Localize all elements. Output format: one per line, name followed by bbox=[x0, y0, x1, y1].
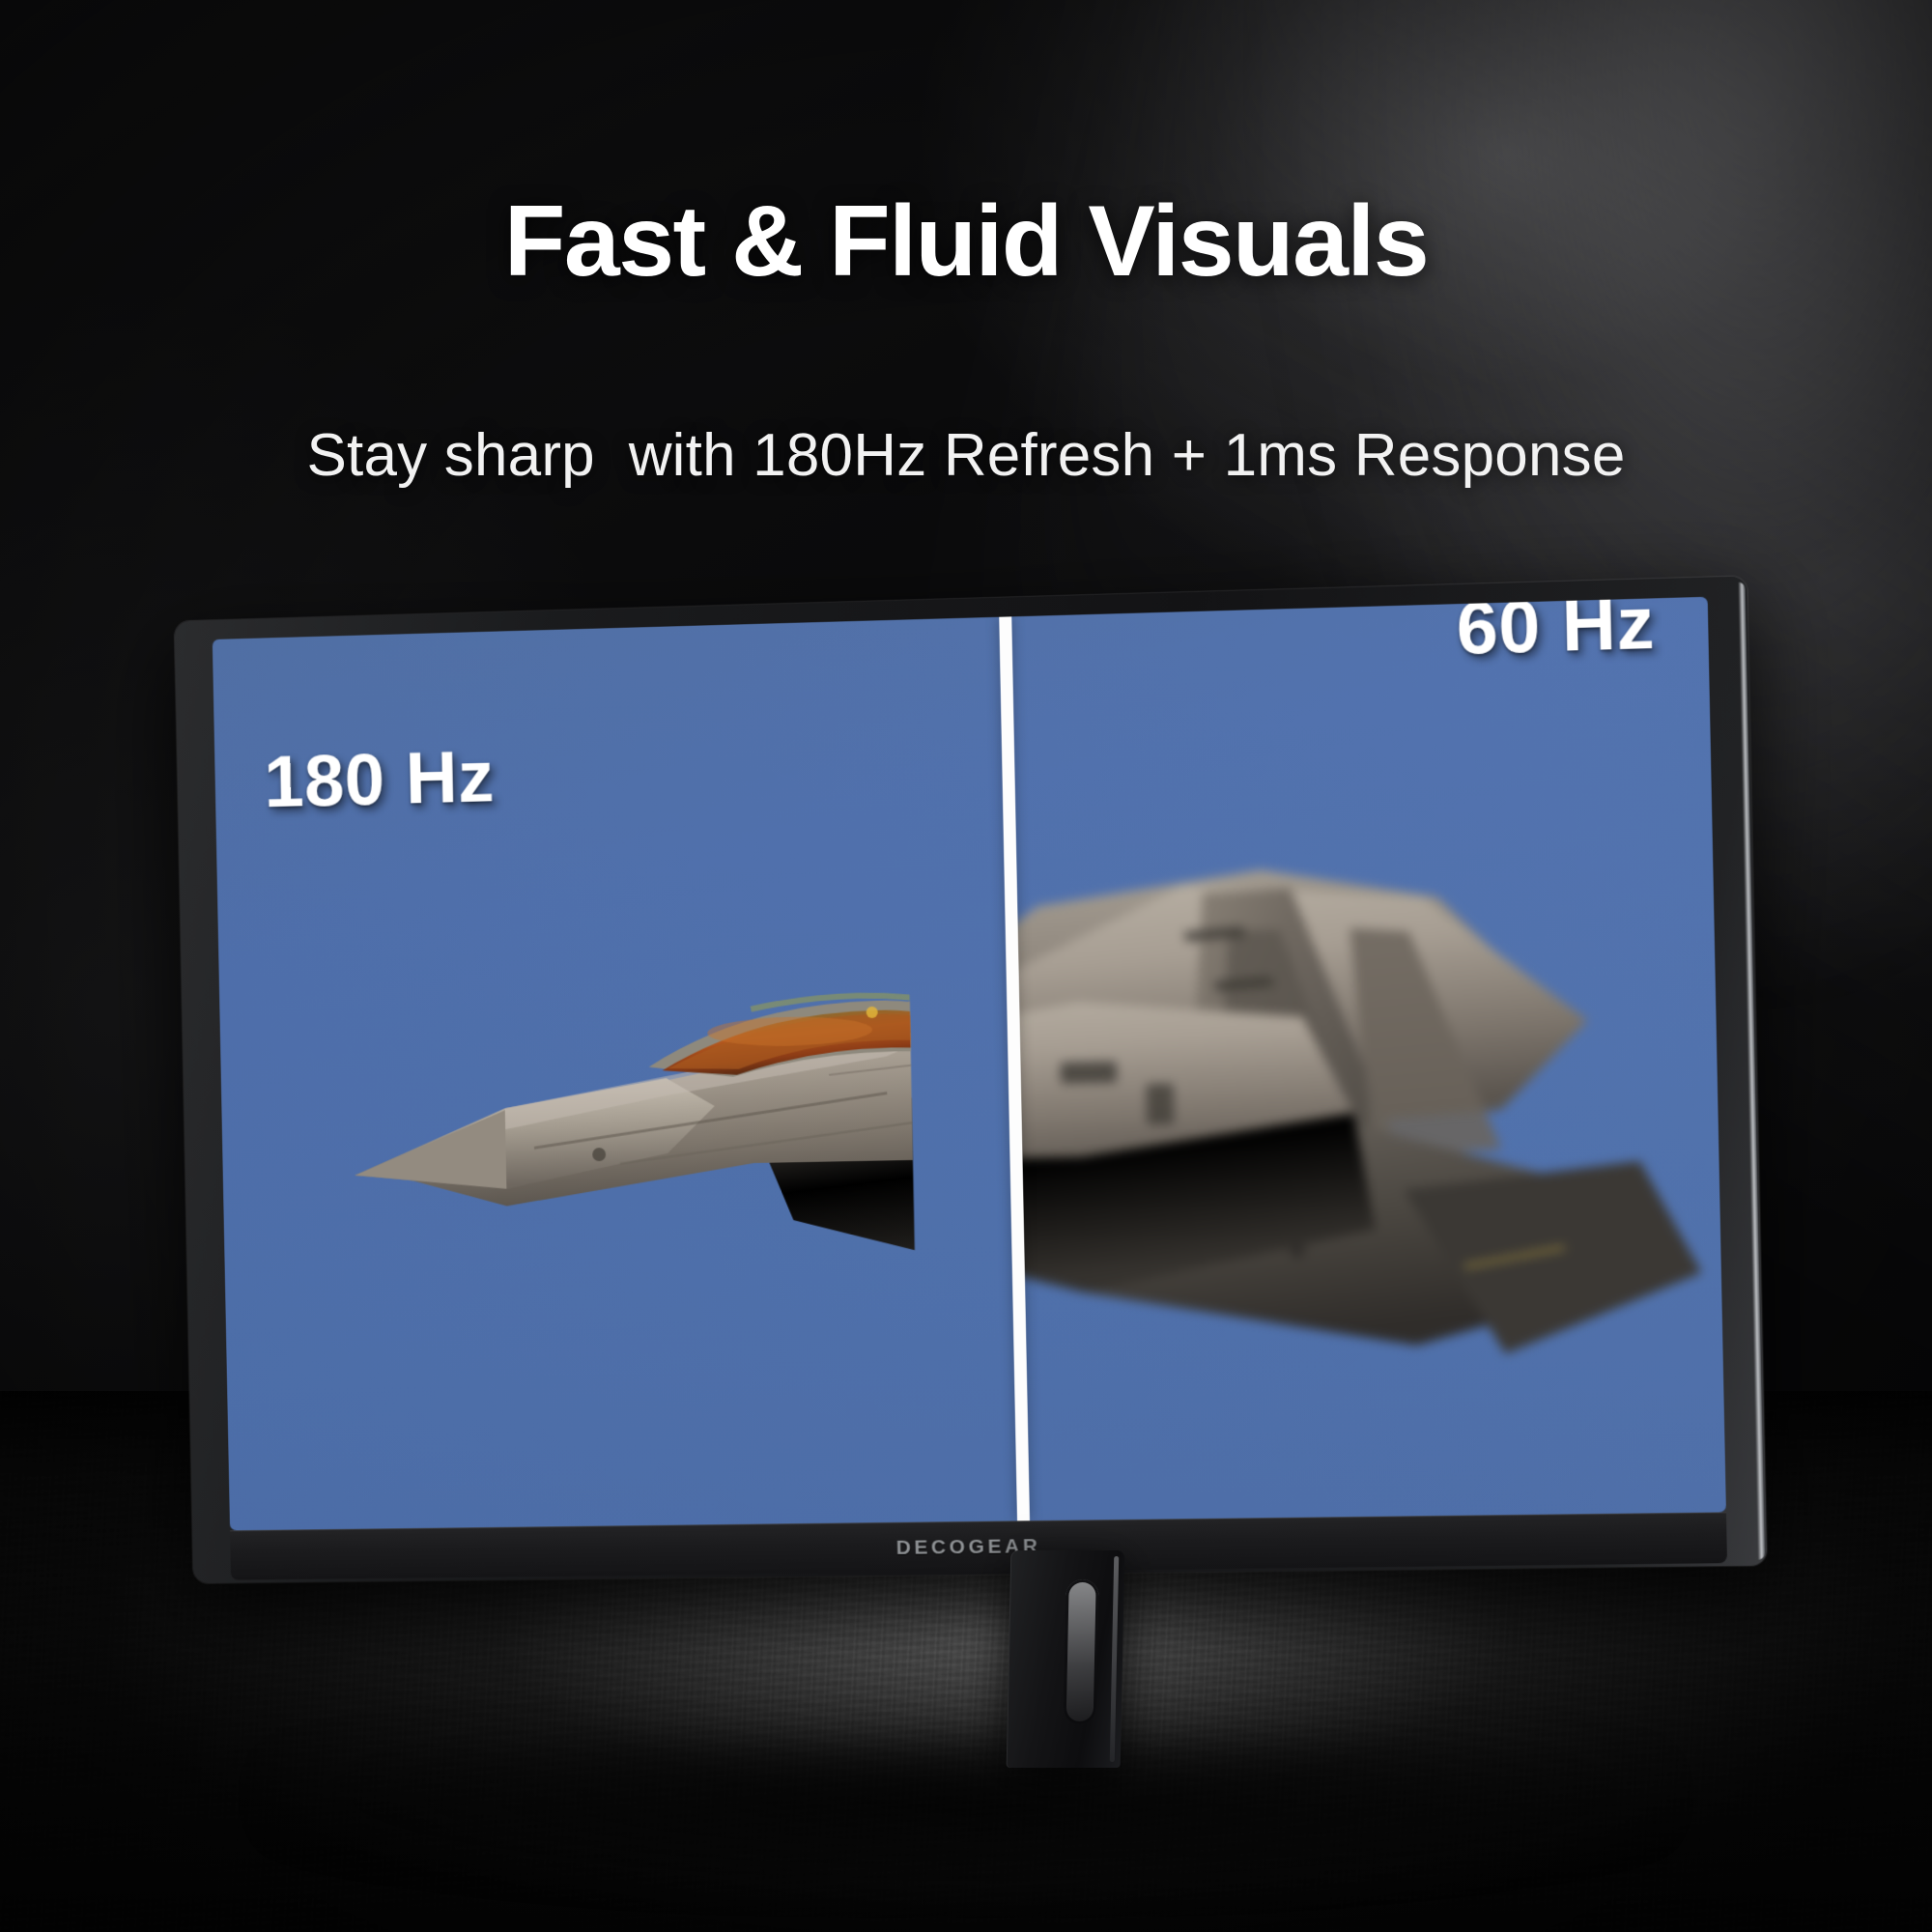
page-title: Fast & Fluid Visuals bbox=[0, 189, 1932, 295]
page-subtitle: Stay sharp with 180Hz Refresh + 1ms Resp… bbox=[0, 423, 1932, 489]
stand-neck-highlight bbox=[1110, 1556, 1119, 1762]
stand-neck bbox=[1007, 1550, 1125, 1768]
monitor-drop-shadow bbox=[270, 1739, 1662, 1884]
cable-management-slot bbox=[1064, 1579, 1099, 1724]
monitor: 180 Hz 60 Hz DECOGEAR bbox=[155, 599, 1758, 1700]
monitor-screen: 180 Hz 60 Hz bbox=[213, 597, 1726, 1531]
refresh-label-60hz: 60 Hz bbox=[1456, 597, 1656, 671]
promo-image-canvas: Fast & Fluid Visuals Stay sharp with 180… bbox=[0, 0, 1932, 1932]
monitor-shell: 180 Hz 60 Hz DECOGEAR bbox=[175, 576, 1768, 1583]
refresh-label-180hz: 180 Hz bbox=[264, 735, 496, 824]
